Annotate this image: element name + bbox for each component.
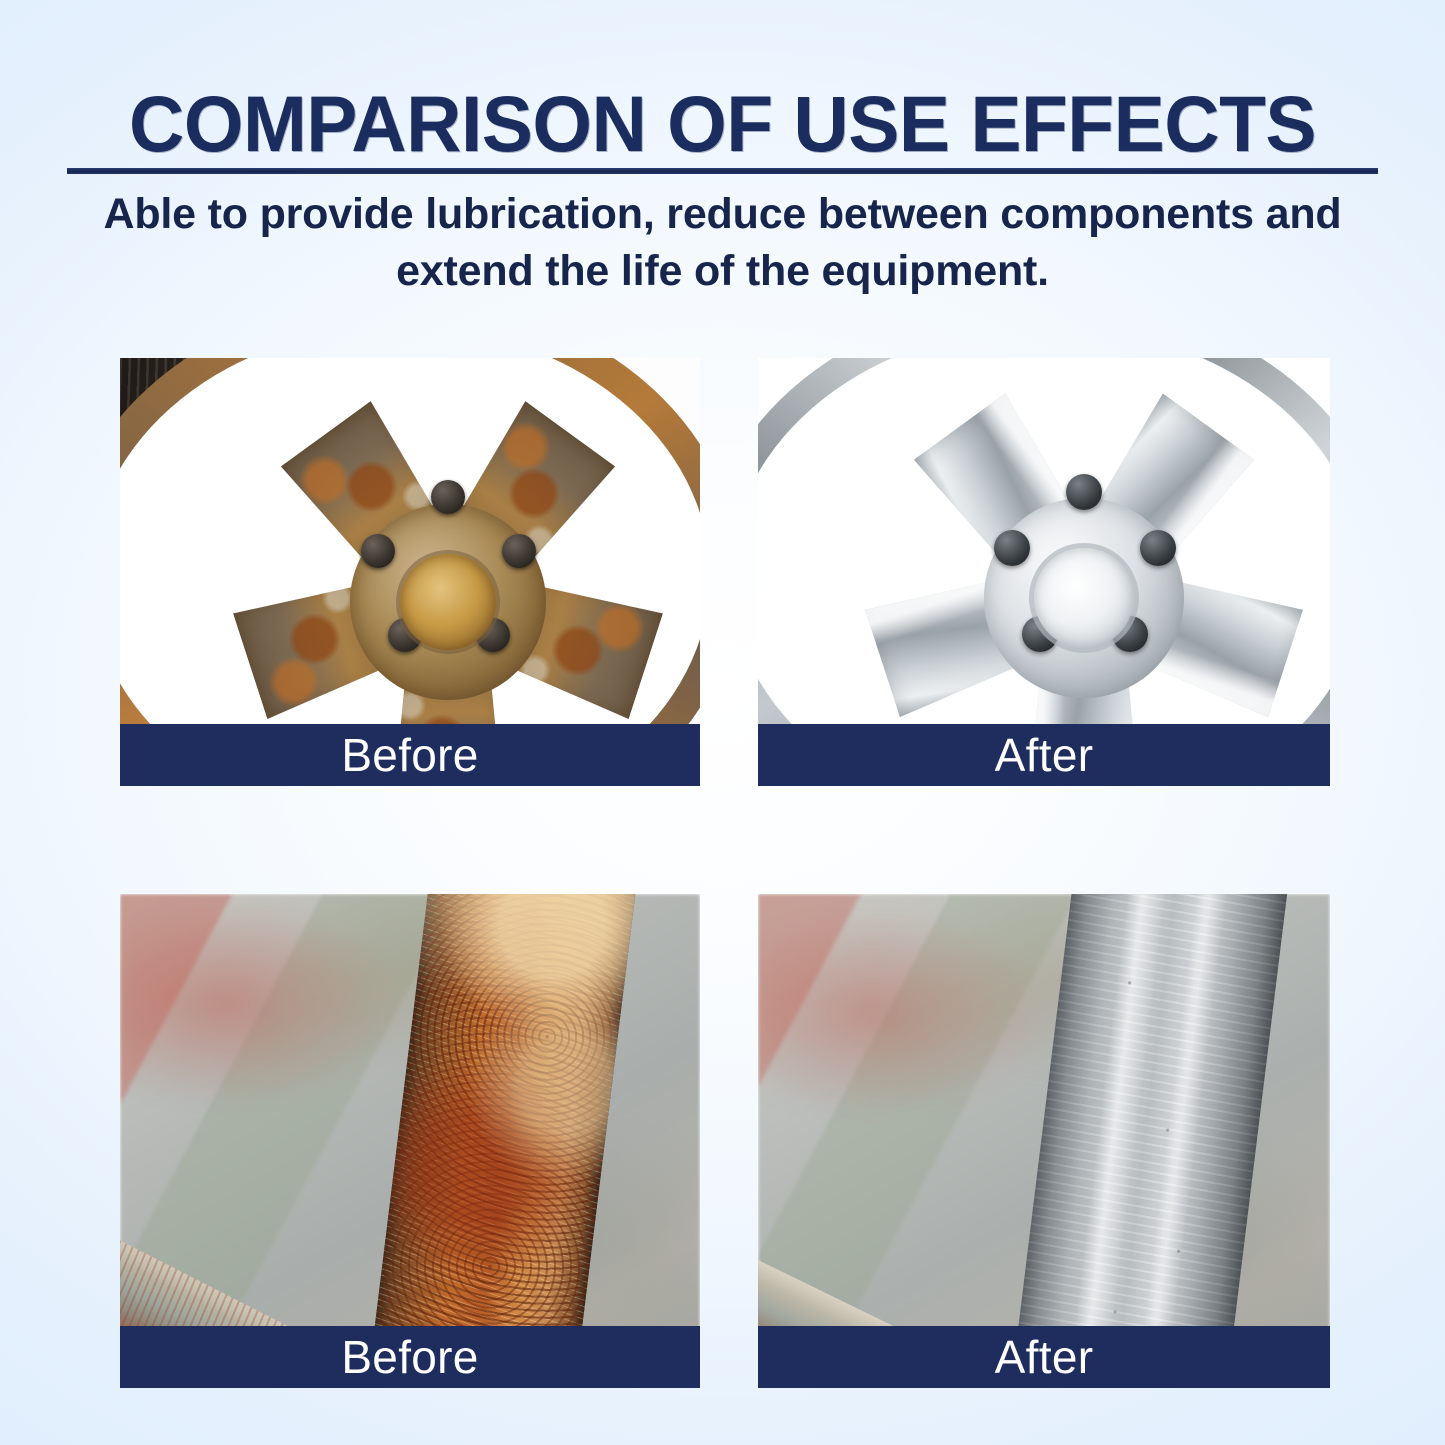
caption-bar-before: Before [120,1326,700,1388]
lug-nut [994,530,1030,566]
infographic-page: COMPARISON OF USE EFFECTS Able to provid… [0,0,1445,1445]
lug-nut [431,480,465,514]
page-title: COMPARISON OF USE EFFECTS [22,0,1424,163]
lug-nut [1140,530,1176,566]
panel-wheel-after: After [758,358,1330,786]
lug-nut [361,534,395,568]
photo-clean-wheel [758,358,1330,786]
panel-pipe-before: Before [120,894,700,1388]
lug-nut [1066,474,1102,510]
title-divider [67,168,1378,174]
wheel-hub-cap [400,554,496,650]
lug-nut [502,534,536,568]
caption-bar-after: After [758,1326,1330,1388]
caption-label: After [995,1334,1094,1380]
caption-label: Before [341,1334,478,1380]
caption-label: Before [341,732,478,778]
page-subtitle: Able to provide lubrication, reduce betw… [62,186,1383,300]
caption-bar-after: After [758,724,1330,786]
caption-label: After [995,732,1094,778]
header: COMPARISON OF USE EFFECTS Able to provid… [0,0,1445,163]
wheel-hub-cap [1034,548,1134,648]
caption-bar-before: Before [120,724,700,786]
panel-wheel-before: Before [120,358,700,786]
photo-rusty-wheel [120,358,700,786]
panel-pipe-after: After [758,894,1330,1388]
photo-clean-pipe [758,894,1330,1388]
photo-rusty-pipe [120,894,700,1388]
